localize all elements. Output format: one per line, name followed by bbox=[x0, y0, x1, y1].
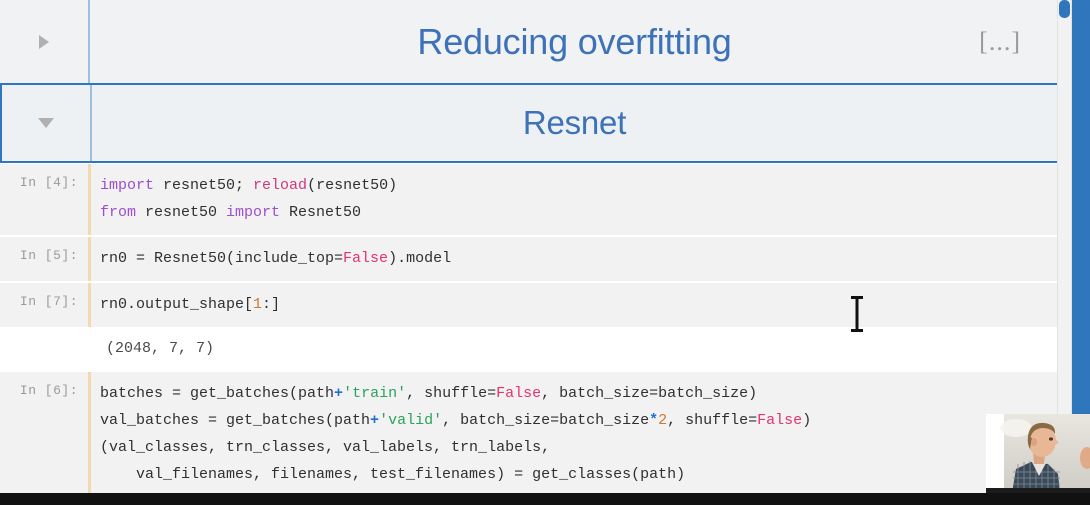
code-token: from bbox=[100, 204, 136, 221]
code-cell-1[interactable]: In [4]:import resnet50; reload(resnet50)… bbox=[0, 163, 1059, 236]
code-token: val_filenames, filenames, test_filenames… bbox=[100, 466, 685, 483]
notebook-cell-list: Reducing overfitting[...]ResnetIn [4]:im… bbox=[0, 0, 1059, 505]
heading-collapse-toggle[interactable] bbox=[2, 85, 90, 161]
triangle-down-icon[interactable] bbox=[38, 118, 54, 128]
code-source[interactable]: rn0.output_shape[1:] bbox=[100, 283, 1059, 327]
code-source[interactable]: rn0 = Resnet50(include_top=False).model bbox=[100, 237, 1059, 281]
code-source[interactable]: batches = get_batches(path+'train', shuf… bbox=[100, 372, 1059, 497]
code-token: reload bbox=[253, 177, 307, 194]
code-token: resnet50 bbox=[136, 204, 226, 221]
code-token: 'valid' bbox=[379, 412, 442, 429]
heading-collapse-toggle[interactable] bbox=[0, 0, 88, 83]
output-cell-4: (2048, 7, 7) bbox=[0, 328, 1059, 371]
code-line: val_filenames, filenames, test_filenames… bbox=[100, 461, 1059, 488]
code-token: ).model bbox=[388, 250, 451, 267]
code-token: batches = get_batches(path bbox=[100, 385, 334, 402]
code-cell-5[interactable]: In [6]:batches = get_batches(path+'train… bbox=[0, 371, 1059, 498]
cell-input-marker bbox=[88, 328, 91, 371]
code-token: 2 bbox=[658, 412, 667, 429]
code-token: :] bbox=[262, 296, 280, 313]
execution-prompt: In [7]: bbox=[0, 283, 88, 327]
code-token: (resnet50) bbox=[307, 177, 397, 194]
heading-title: Resnet bbox=[523, 104, 626, 142]
execution-prompt: In [6]: bbox=[0, 372, 88, 497]
execution-prompt bbox=[0, 328, 88, 371]
code-line: (val_classes, trn_classes, val_labels, t… bbox=[100, 434, 1059, 461]
code-token: rn0 = Resnet50(include_top= bbox=[100, 250, 343, 267]
code-line: rn0.output_shape[1:] bbox=[100, 291, 1059, 318]
code-token: , shuffle= bbox=[667, 412, 757, 429]
code-token: import bbox=[100, 177, 154, 194]
output-text: (2048, 7, 7) bbox=[100, 328, 1059, 371]
code-token: rn0.output_shape[ bbox=[100, 296, 253, 313]
cell-input-marker bbox=[88, 237, 91, 281]
code-line: batches = get_batches(path+'train', shuf… bbox=[100, 380, 1059, 407]
code-source[interactable]: import resnet50; reload(resnet50)from re… bbox=[100, 164, 1059, 235]
code-token: * bbox=[649, 412, 658, 429]
code-token: False bbox=[496, 385, 541, 402]
heading-cell-2[interactable]: Resnet bbox=[0, 83, 1059, 163]
code-token: , batch_size=batch_size) bbox=[541, 385, 757, 402]
heading-body[interactable]: Resnet bbox=[92, 85, 1057, 161]
code-token: Resnet50 bbox=[280, 204, 361, 221]
code-token: (val_classes, trn_classes, val_labels, t… bbox=[100, 439, 550, 456]
heading-title: Reducing overfitting bbox=[417, 21, 731, 63]
bottom-black-bar bbox=[0, 493, 1090, 505]
code-token: ) bbox=[802, 412, 811, 429]
notebook-root: Reducing overfitting[...]ResnetIn [4]:im… bbox=[0, 0, 1090, 505]
cell-input-marker bbox=[88, 372, 91, 497]
execution-prompt: In [5]: bbox=[0, 237, 88, 281]
code-line: import resnet50; reload(resnet50) bbox=[100, 172, 1059, 199]
code-line: from resnet50 import Resnet50 bbox=[100, 199, 1059, 226]
heading-body[interactable]: Reducing overfitting[...] bbox=[90, 0, 1059, 83]
heading-cell-1[interactable]: Reducing overfitting[...] bbox=[0, 0, 1059, 83]
code-token: + bbox=[370, 412, 379, 429]
code-cell-2[interactable]: In [5]:rn0 = Resnet50(include_top=False)… bbox=[0, 236, 1059, 282]
code-token: False bbox=[757, 412, 802, 429]
cell-input-marker bbox=[88, 283, 91, 327]
code-token: , batch_size=batch_size bbox=[442, 412, 649, 429]
triangle-right-icon[interactable] bbox=[39, 35, 49, 49]
code-line: rn0 = Resnet50(include_top=False).model bbox=[100, 245, 1059, 272]
code-token: + bbox=[334, 385, 343, 402]
code-cell-3[interactable]: In [7]:rn0.output_shape[1:] bbox=[0, 282, 1059, 328]
cell-input-marker bbox=[88, 164, 91, 235]
code-token: 'train' bbox=[343, 385, 406, 402]
execution-prompt: In [4]: bbox=[0, 164, 88, 235]
code-token: resnet50; bbox=[154, 177, 253, 194]
code-token: , shuffle= bbox=[406, 385, 496, 402]
presenter-video-overlay bbox=[986, 414, 1090, 493]
code-token: False bbox=[343, 250, 388, 267]
code-token: val_batches = get_batches(path bbox=[100, 412, 370, 429]
code-token: import bbox=[226, 204, 280, 221]
scrollbar-thumb[interactable] bbox=[1059, 0, 1070, 18]
collapsed-content-ellipsis[interactable]: [...] bbox=[979, 27, 1021, 57]
code-line: val_batches = get_batches(path+'valid', … bbox=[100, 407, 1059, 434]
code-token: 1 bbox=[253, 296, 262, 313]
